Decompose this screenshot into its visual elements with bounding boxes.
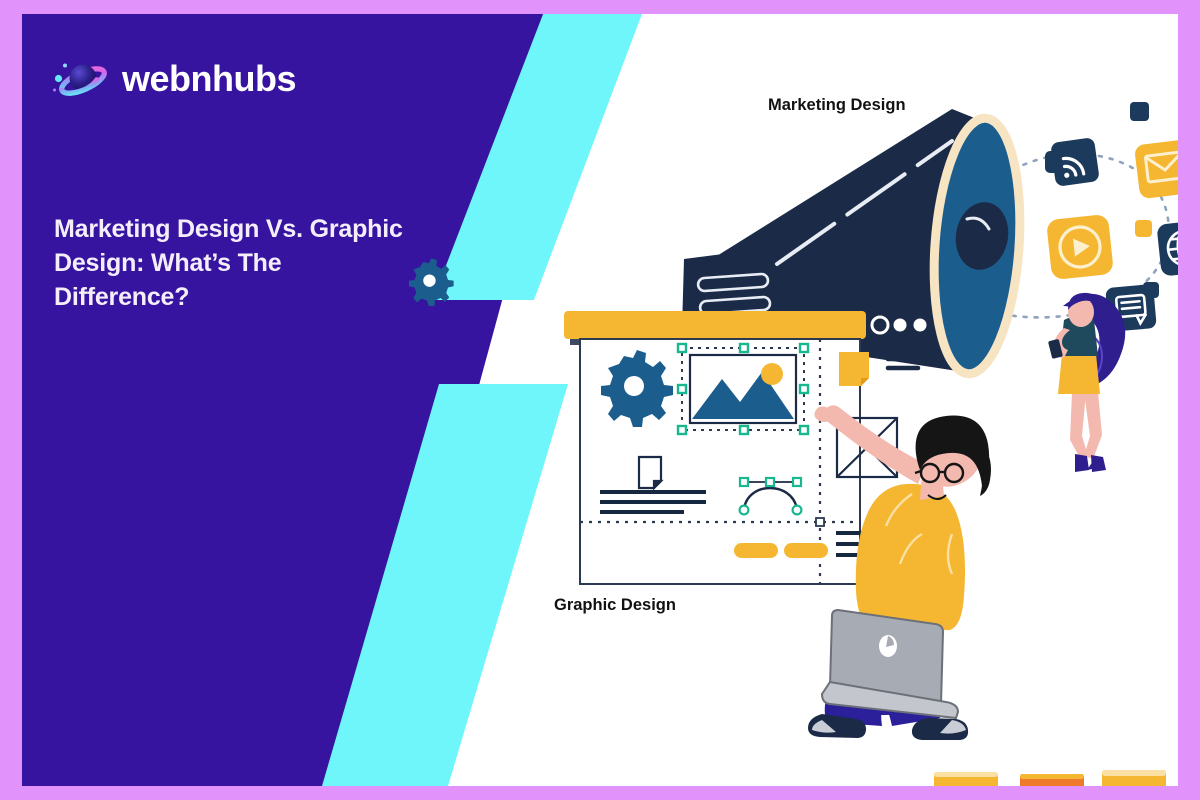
window-dot-icon [894, 319, 907, 332]
selection-handles [678, 344, 808, 434]
pill-button [734, 543, 778, 558]
selection-handles [682, 348, 804, 430]
rss-icon [1050, 137, 1100, 187]
planet-ring-icon [52, 52, 110, 106]
window-dot-icon [914, 319, 927, 332]
text-lines [836, 533, 910, 555]
man-with-laptop-character [808, 405, 991, 740]
megaphone-icon [682, 109, 1028, 377]
chat-bubble-icon [1105, 284, 1157, 332]
banner-canvas: webnhubs Marketing Design Vs. Graphic De… [22, 14, 1178, 786]
text-lines [600, 492, 706, 512]
pill-button [784, 543, 828, 558]
banner-frame: webnhubs Marketing Design Vs. Graphic De… [0, 0, 1200, 800]
hamburger-menu-icon [888, 350, 918, 368]
envelope-icon [1134, 139, 1178, 199]
label-marketing-design: Marketing Design [768, 96, 906, 115]
gear-icon [601, 350, 673, 427]
dotted-orbit-path [915, 154, 1168, 317]
brand-name: webnhubs [122, 61, 296, 97]
bottom-decor-bars [934, 770, 1178, 786]
globe-icon [1156, 219, 1178, 276]
woman-with-phone-character [1048, 293, 1125, 472]
square-decor-icon [1130, 102, 1149, 121]
brand-logo[interactable]: webnhubs [52, 52, 296, 106]
sound-dotted-line [602, 294, 982, 331]
square-decor-icon [1143, 282, 1159, 298]
laptop-icon [822, 610, 958, 718]
label-graphic-design: Graphic Design [554, 596, 676, 615]
sticky-note-icon [839, 352, 869, 386]
square-decor-icon [1135, 220, 1152, 237]
crossed-box-icon [837, 418, 897, 477]
bezier-curve-icon [740, 478, 802, 514]
document-icon [639, 457, 661, 488]
image-placeholder-icon [690, 355, 796, 423]
square-decor-icon [1045, 151, 1067, 173]
design-window-titlebar [564, 311, 927, 345]
page-title: Marketing Design Vs. Graphic Design: Wha… [54, 212, 414, 314]
icon-cluster [1045, 102, 1178, 332]
play-button-icon [1046, 214, 1114, 280]
window-dot-icon [872, 317, 888, 333]
